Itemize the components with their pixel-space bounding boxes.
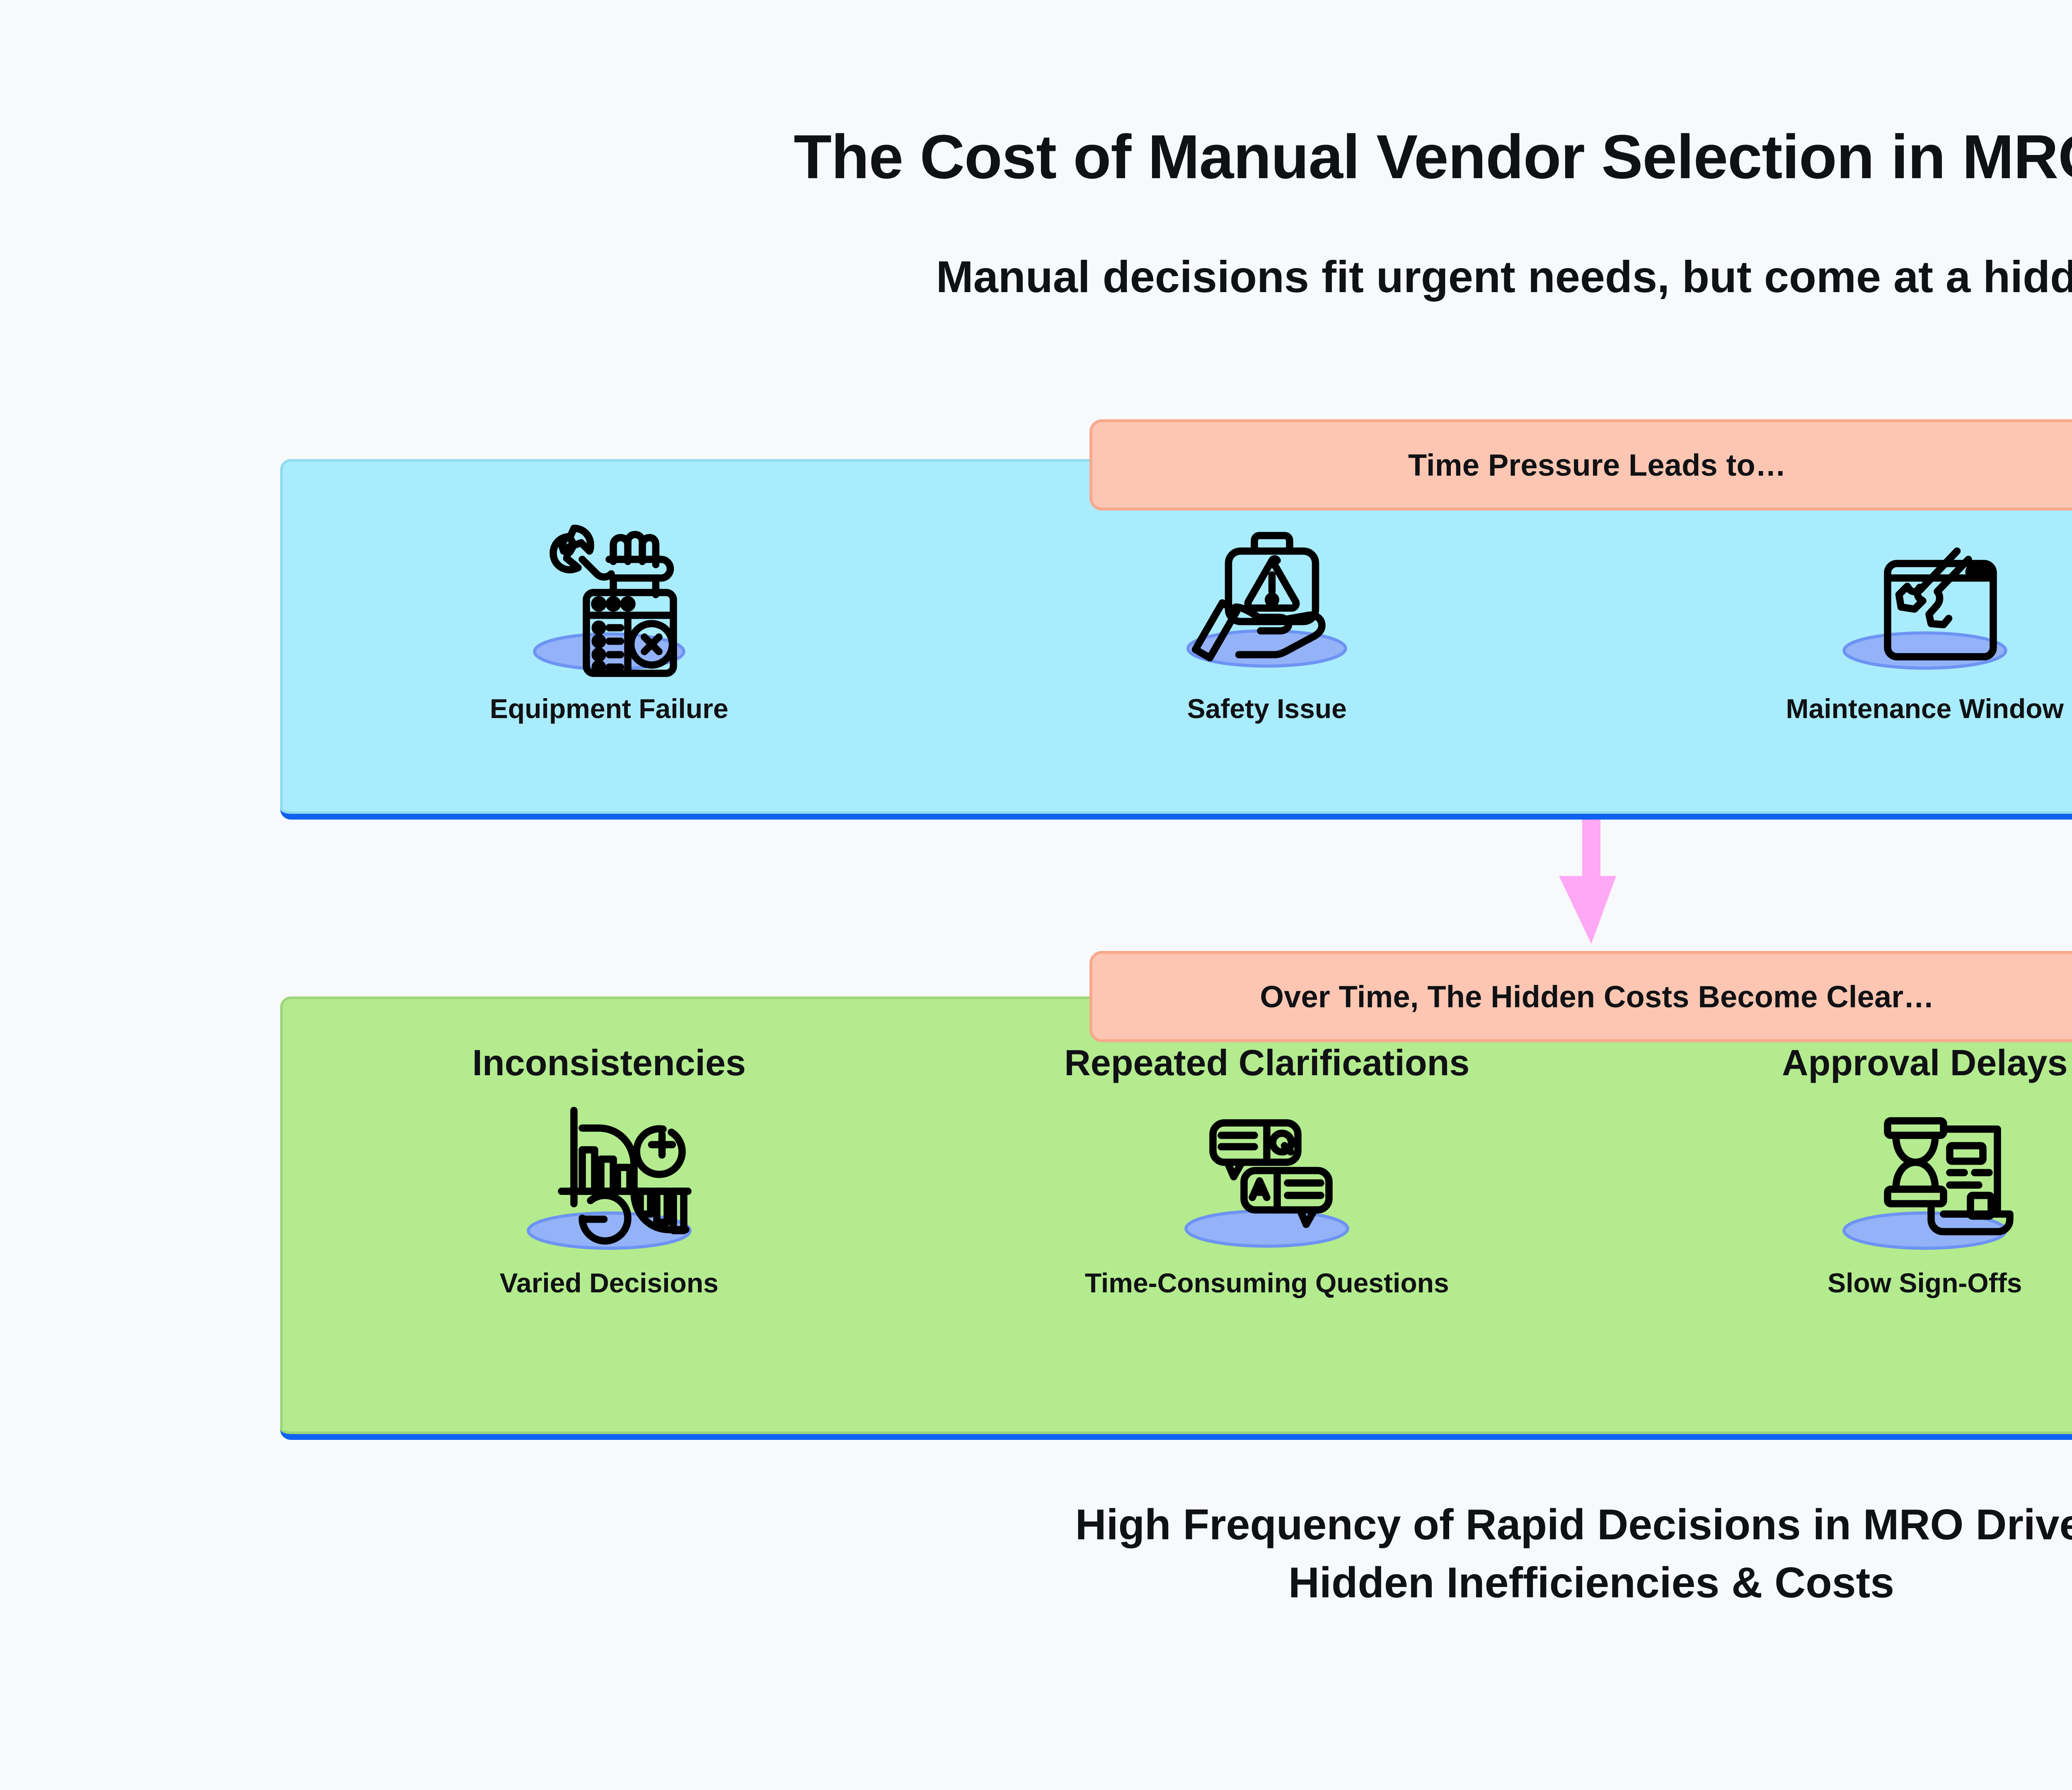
cause-label: Safety Issue: [1187, 694, 1347, 724]
cause-item-maintenance-window: Maintenance Window: [1596, 510, 2072, 800]
page-title: The Cost of Manual Vendor Selection in M…: [0, 124, 2072, 190]
question-answer-bubbles-icon: [1151, 1090, 1383, 1264]
wrench-hand-error-panel-icon: [493, 510, 725, 684]
cost-item-repeated-clarifications: Repeated Clarifications: [938, 1036, 1596, 1421]
costs-row: Inconsistencies: [280, 1036, 2072, 1421]
hand-toolbox-warning-icon: [1151, 510, 1383, 684]
browser-window-wrench-icon: [1809, 510, 2041, 684]
cause-item-equipment-failure: Equipment Failure: [280, 510, 938, 800]
cost-heading: Inconsistencies: [472, 1036, 746, 1090]
down-arrow-icon: [1550, 820, 1633, 944]
cost-label: Slow Sign-Offs: [1828, 1268, 2022, 1298]
footer-line-1: High Frequency of Rapid Decisions in MRO…: [0, 1496, 2072, 1554]
time-pressure-badge-label: Time Pressure Leads to…: [1408, 447, 1786, 483]
cause-label: Maintenance Window: [1786, 694, 2064, 724]
cost-item-inconsistencies: Inconsistencies: [280, 1036, 938, 1421]
hidden-costs-badge: Over Time, The Hidden Costs Become Clear…: [1089, 951, 2072, 1042]
cost-heading: Approval Delays: [1782, 1036, 2068, 1090]
footer-line-2: Hidden Inefficiencies & Costs: [0, 1554, 2072, 1612]
hidden-costs-badge-label: Over Time, The Hidden Costs Become Clear…: [1260, 979, 1934, 1014]
cost-label: Varied Decisions: [500, 1268, 719, 1298]
page-subtitle: Manual decisions fit urgent needs, but c…: [0, 251, 2072, 302]
variance-bar-chart-icon: [493, 1090, 725, 1264]
hourglass-document-icon: [1809, 1090, 2041, 1264]
time-pressure-badge: Time Pressure Leads to…: [1089, 419, 2072, 510]
causes-row: Equipment Failure: [280, 510, 2072, 800]
cause-item-safety-issue: Safety Issue: [938, 510, 1596, 800]
cost-item-approval-delays: Approval Delays Slow Sign-Offs: [1596, 1036, 2072, 1421]
footer-summary: High Frequency of Rapid Decisions in MRO…: [0, 1496, 2072, 1612]
cause-label: Equipment Failure: [490, 694, 729, 724]
cost-label: Time-Consuming Questions: [1085, 1268, 1449, 1298]
cost-heading: Repeated Clarifications: [1064, 1036, 1469, 1090]
infographic-canvas: The Cost of Manual Vendor Selection in M…: [0, 0, 2072, 1790]
